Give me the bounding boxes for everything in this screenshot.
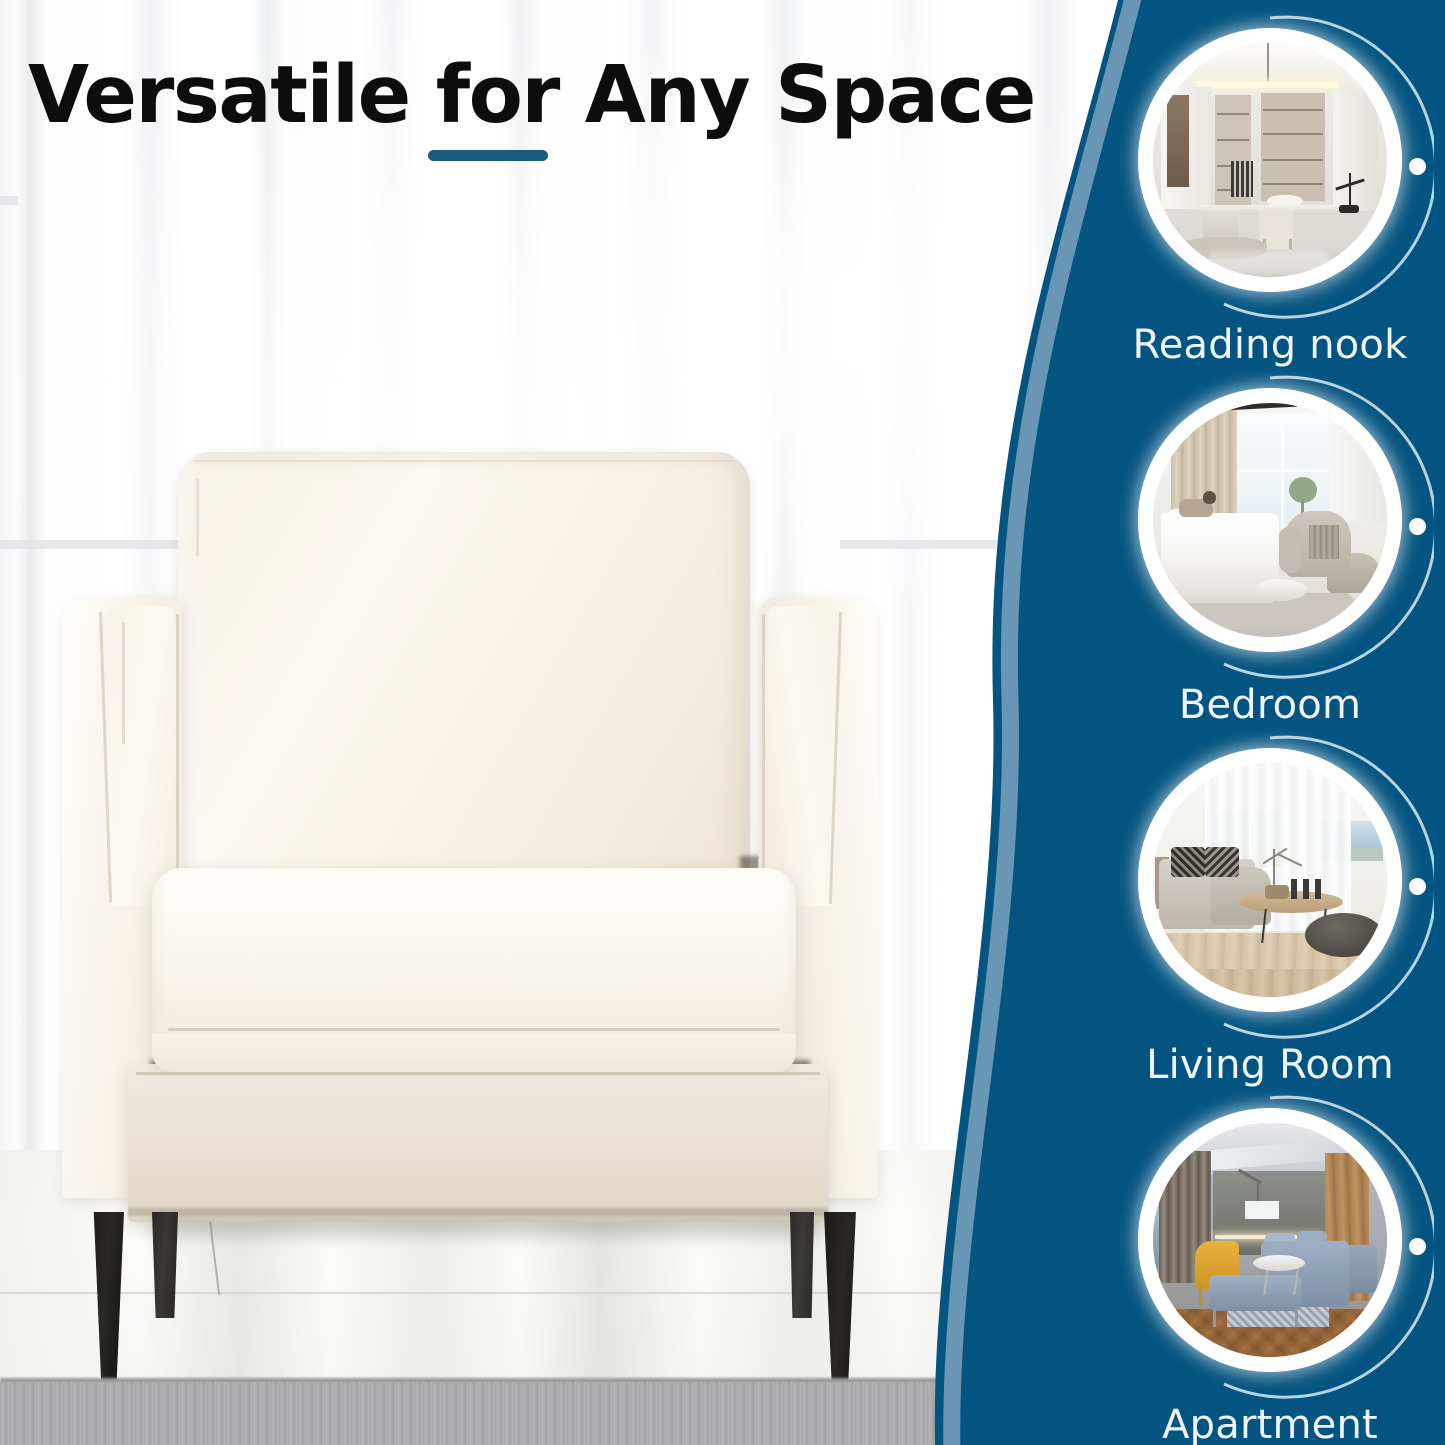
photo-white-ring (1138, 748, 1402, 1012)
product-photo (0, 0, 1080, 1445)
circle-frame (1120, 738, 1420, 1038)
chair-base-edge (128, 1208, 828, 1216)
use-case-card[interactable]: Bedroom (1095, 378, 1445, 726)
circle-frame (1120, 378, 1420, 678)
marketing-image: Reading nook (0, 0, 1445, 1445)
chair-arm-seam (762, 614, 765, 908)
circle-frame (1120, 1098, 1420, 1398)
chair-leg (152, 1212, 178, 1318)
chair-back-cushion (178, 452, 750, 884)
chair-leg (88, 1212, 124, 1394)
scene-photo-living-room (1153, 763, 1387, 997)
area-rug (0, 1382, 1080, 1445)
chair-base-seam (136, 1072, 820, 1075)
use-case-card[interactable]: Living Room (1095, 738, 1445, 1086)
scene-photo-apartment (1153, 1123, 1387, 1357)
title-underline-accent (428, 150, 548, 161)
chair-floor-shadow (150, 1216, 820, 1238)
photo-white-ring (1138, 1108, 1402, 1372)
chair-base (128, 1064, 828, 1222)
chair-seat-front (152, 1034, 796, 1072)
scene-photo-bedroom (1153, 403, 1387, 637)
connector-dot (1409, 1238, 1426, 1255)
circle-frame (1120, 18, 1420, 318)
chair-leg (790, 1212, 814, 1318)
chair-arm-seam (176, 614, 179, 910)
use-case-list: Reading nook (1095, 0, 1445, 1445)
chair-arm-crease (122, 622, 125, 744)
photo-white-ring (1138, 28, 1402, 292)
connector-dot (1409, 878, 1426, 895)
photo-white-ring (1138, 388, 1402, 652)
page-title: Versatile for Any Space (28, 56, 1008, 135)
armchair (0, 0, 1080, 1445)
use-case-card[interactable]: Apartment (1095, 1098, 1445, 1445)
connector-dot (1409, 158, 1426, 175)
connector-dot (1409, 518, 1426, 535)
chair-leg (824, 1212, 862, 1398)
chair-left-arm-top (99, 606, 185, 906)
scene-photo-reading-nook (1153, 43, 1387, 277)
use-case-card[interactable]: Reading nook (1095, 18, 1445, 366)
chair-seat-seam (168, 1028, 780, 1031)
